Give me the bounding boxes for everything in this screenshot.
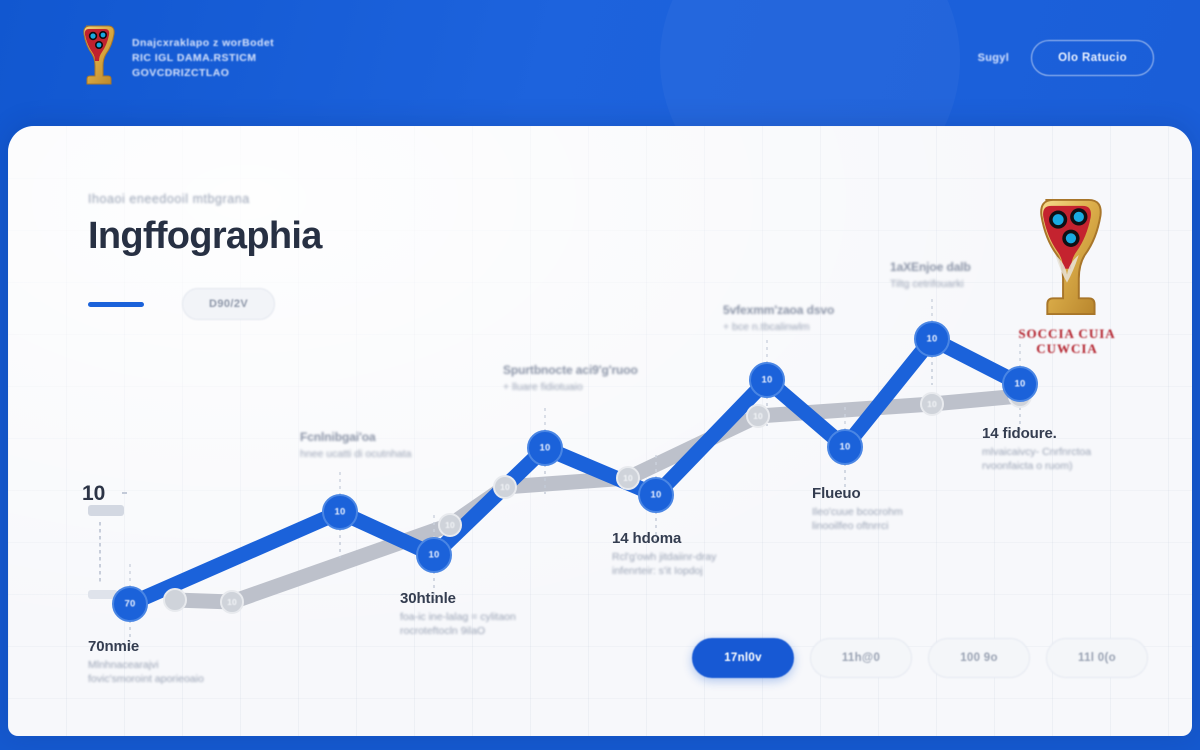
annotation-title: 14 hdoma (612, 530, 716, 547)
annotation-title: 5vfexmm'zaoa dsvo (723, 303, 834, 317)
world-cup-trophy-icon (1024, 196, 1110, 318)
chart-annotation: Fcnlnibgai'oahnee ucatti di ocutnhata (300, 430, 412, 461)
chart-annotation: 1aXEnjoe dalbTiltg cetrifouarki (890, 260, 971, 291)
footer-pill-3[interactable]: 11l 0(o (1046, 638, 1148, 678)
annotation-subtext: Mlnhnacearajvifovic'smoroint aporieoaio (88, 658, 204, 686)
app-root: Dnajcxraklapo z worBodet RIC IGL DAMA.RS… (0, 0, 1200, 750)
annotation-subtext: Ileo'cuue bcocrohmlinooilfeo oftnrrci (812, 505, 903, 533)
annotation-title: 70nmie (88, 638, 204, 655)
chart-annotation: FlueuoIleo'cuue bcocrohmlinooilfeo oftnr… (812, 485, 903, 533)
annotation-title: Fcnlnibgai'oa (300, 430, 412, 444)
annotation-subtext: hnee ucatti di ocutnhata (300, 447, 412, 461)
annotation-subtext: mlvaicaivcy- Cnrfnrctoarvoonfaicta o ruo… (982, 445, 1091, 473)
annotation-subtext: Tiltg cetrifouarki (890, 277, 971, 291)
chart-annotation: 14 fidoure.mlvaicaivcy- Cnrfnrctoarvoonf… (982, 425, 1091, 473)
annotation-title: 1aXEnjoe dalb (890, 260, 971, 274)
annotation-title: Spurtbnocte aci9'g'ruoo (503, 363, 638, 377)
annotation-subtext: foa-ic ine-lalag = cylitaonrocroteftocln… (400, 610, 516, 638)
annotation-subtext: + lluare fidiotuaio (503, 380, 638, 394)
annotation-subtext: Rcl'g'owh jitdaiinr-drayinfenrteir: s'it… (612, 550, 716, 578)
chart-annotation: 70nmieMlnhnacearajvifovic'smoroint apori… (88, 638, 204, 686)
chart-annotation: Spurtbnocte aci9'g'ruoo+ lluare fidiotua… (503, 363, 638, 394)
annotation-title: 14 fidoure. (982, 425, 1091, 442)
annotation-subtext: + bce n.tbcalinwlm (723, 320, 834, 334)
footer-pill-0[interactable]: 17nl0v (692, 638, 794, 678)
watermark-caption-line1: SOCCIA CUIA (1012, 326, 1122, 341)
chart-annotation: 14 hdomaRcl'g'owh jitdaiinr-drayinfenrte… (612, 530, 716, 578)
watermark-caption-line2: CUWCIA (1012, 341, 1122, 356)
annotation-title: 30htinle (400, 590, 516, 607)
annotation-title: Flueuo (812, 485, 903, 502)
chart-annotation: 30htinlefoa-ic ine-lalag = cylitaonrocro… (400, 590, 516, 638)
footer-pill-1[interactable]: 11h@0 (810, 638, 912, 678)
footer-pill-2[interactable]: 100 9o (928, 638, 1030, 678)
watermark-logo: SOCCIA CUIA CUWCIA (1012, 196, 1122, 356)
footer-pill-group: 17nl0v11h@0100 9o11l 0(o (692, 638, 1148, 678)
chart-annotation: 5vfexmm'zaoa dsvo+ bce n.tbcalinwlm (723, 303, 834, 334)
